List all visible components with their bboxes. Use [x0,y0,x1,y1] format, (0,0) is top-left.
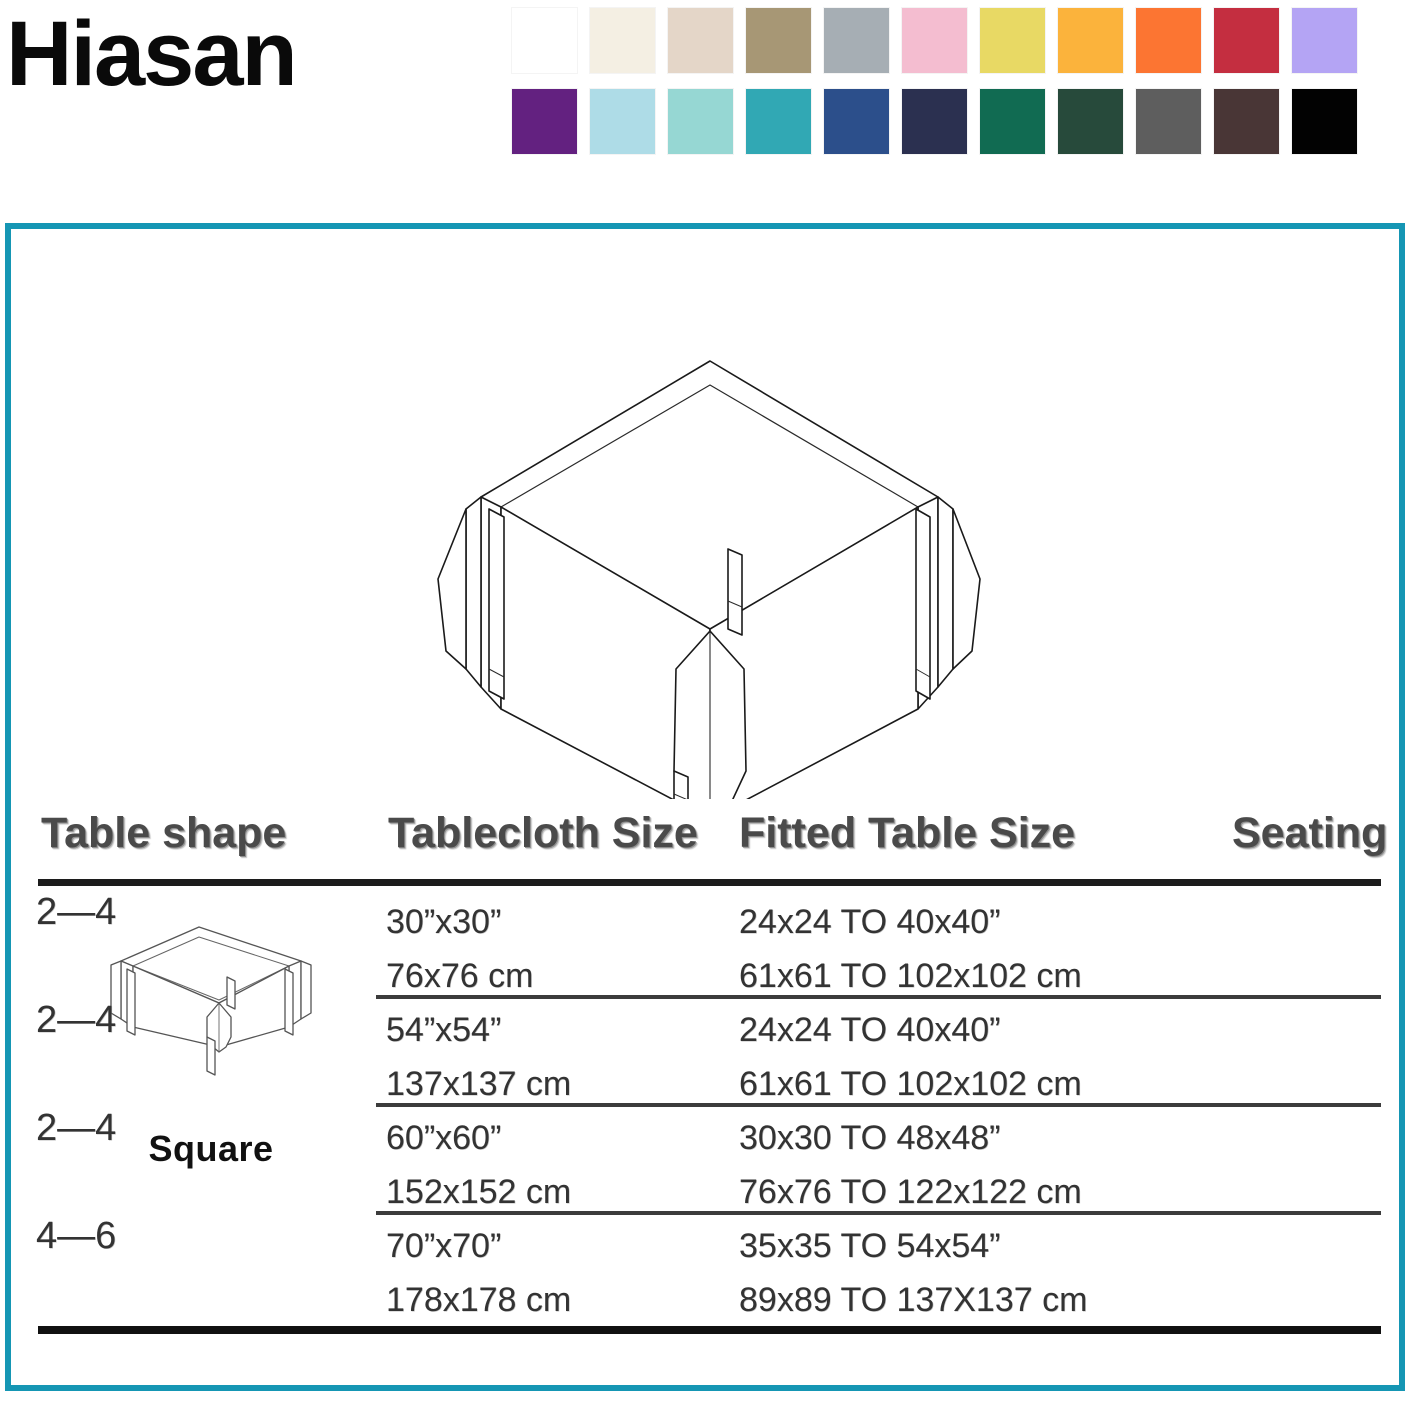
size-chart-panel: Table shape Tablecloth Size Fitted Table… [5,223,1405,1391]
size-table-body: 30”x30”76x76 cm24x24 TO 40x40”61x61 TO 1… [36,891,1381,1323]
table-row: 54”x54”137x137 cm24x24 TO 40x40”61x61 TO… [36,999,1381,1107]
cell-tablecloth-cm: 137x137 cm [386,1065,571,1104]
brand-logo: Hiasan [6,8,296,100]
color-swatch-gray[interactable] [824,8,889,73]
header-table-shape: Table shape [41,809,286,858]
cell-tablecloth-inches: 30”x30” [386,903,501,942]
header-tablecloth-size: Tablecloth Size [388,809,698,858]
cell-fitted-cm: 89x89 TO 137X137 cm [739,1281,1087,1320]
table-row: 30”x30”76x76 cm24x24 TO 40x40”61x61 TO 1… [36,891,1381,999]
color-swatch-dark-gray[interactable] [1136,89,1201,154]
cell-fitted-inches: 24x24 TO 40x40” [739,903,1000,942]
color-swatch-marigold[interactable] [1058,8,1123,73]
cell-tablecloth-inches: 70”x70” [386,1227,501,1266]
cell-fitted-inches: 35x35 TO 54x54” [739,1227,1000,1266]
color-swatch-red[interactable] [1214,8,1279,73]
cell-tablecloth-cm: 76x76 cm [386,957,533,996]
cell-fitted-cm: 76x76 TO 122x122 cm [739,1173,1082,1212]
cell-fitted-cm: 61x61 TO 102x102 cm [739,1065,1082,1104]
color-swatch-aqua[interactable] [668,89,733,154]
cell-tablecloth-cm: 152x152 cm [386,1173,571,1212]
color-swatch-purple[interactable] [512,89,577,154]
color-swatch-forest[interactable] [1058,89,1123,154]
cell-seating: 2—4 [36,891,1381,934]
color-swatch-dark-brown[interactable] [1214,89,1279,154]
cell-tablecloth-inches: 60”x60” [386,1119,501,1158]
color-swatch-row-1 [512,8,1412,73]
color-swatch-pink[interactable] [902,8,967,73]
color-swatch-lavender[interactable] [1292,8,1357,73]
size-table-header-row: Table shape Tablecloth Size Fitted Table… [36,809,1381,871]
table-row: 60”x60”152x152 cm30x30 TO 48x48”76x76 TO… [36,1107,1381,1215]
cell-tablecloth-inches: 54”x54” [386,1011,501,1050]
color-swatch-row-2 [512,89,1412,154]
color-swatch-teal[interactable] [746,89,811,154]
table-bottom-rule [38,1326,1381,1334]
color-swatch-beige[interactable] [668,8,733,73]
color-swatch-emerald[interactable] [980,89,1045,154]
cell-seating: 4—6 [36,1215,1381,1258]
size-table: Table shape Tablecloth Size Fitted Table… [36,809,1381,871]
color-swatch-black[interactable] [1292,89,1357,154]
color-swatch-white[interactable] [512,8,577,73]
color-swatch-light-blue[interactable] [590,89,655,154]
header-fitted-table-size: Fitted Table Size [739,809,1075,858]
cell-fitted-cm: 61x61 TO 102x102 cm [739,957,1082,996]
color-swatch-blue[interactable] [824,89,889,154]
brand-header: Hiasan [0,0,1416,200]
color-swatch-orange[interactable] [1136,8,1201,73]
color-swatch-yellow[interactable] [980,8,1045,73]
cell-seating: 2—4 [36,1107,1381,1150]
table-row: 70”x70”178x178 cm35x35 TO 54x54”89x89 TO… [36,1215,1381,1323]
cell-tablecloth-cm: 178x178 cm [386,1281,571,1320]
cell-fitted-inches: 30x30 TO 48x48” [739,1119,1000,1158]
cell-fitted-inches: 24x24 TO 40x40” [739,1011,1000,1050]
header-divider-rule [38,879,1381,886]
color-swatch-ivory[interactable] [590,8,655,73]
header-seating: Seating [1232,809,1387,858]
color-swatch-taupe[interactable] [746,8,811,73]
square-table-with-draped-tablecloth-illustration [426,339,986,799]
color-swatch-grid [512,8,1412,170]
color-swatch-navy[interactable] [902,89,967,154]
cell-seating: 2—4 [36,999,1381,1042]
